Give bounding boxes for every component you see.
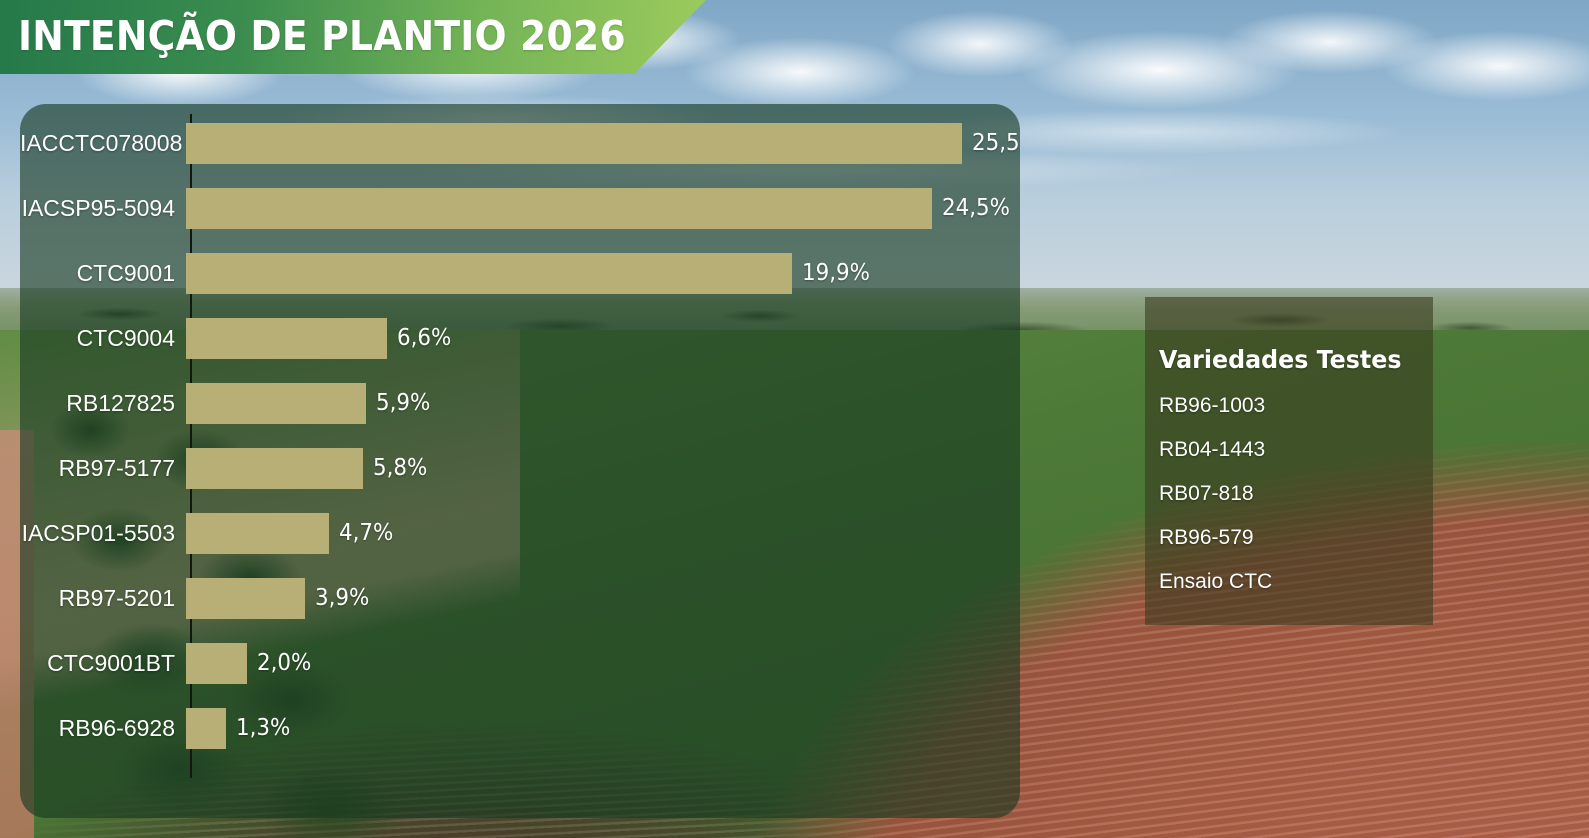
bar-category-label: RB97-5177 [20, 448, 184, 489]
variedade-teste-item: RB96-1003 [1159, 394, 1433, 418]
bar-row: RB1278255,9% [20, 383, 1020, 424]
bar-row: IACSP95-509424,5% [20, 188, 1020, 229]
bar-row: CTC90046,6% [20, 318, 1020, 359]
bar-fill [186, 578, 305, 619]
bar-category-label: CTC9004 [20, 318, 184, 359]
bar-row: CTC9001BT2,0% [20, 643, 1020, 684]
bar-row: RB96-69281,3% [20, 708, 1020, 749]
bar-row: RB97-52013,9% [20, 578, 1020, 619]
bar-track: 5,8% [184, 448, 1020, 489]
bar-value-label: 4,7% [339, 513, 393, 554]
bar-category-label: RB96-6928 [20, 708, 184, 749]
bar-fill [186, 383, 366, 424]
bar-category-label: CTC9001 [20, 253, 184, 294]
bar-track: 2,0% [184, 643, 1020, 684]
bar-track: 1,3% [184, 708, 1020, 749]
bar-value-label: 19,9% [802, 253, 870, 294]
variedades-testes-panel: Variedades Testes RB96-1003RB04-1443RB07… [1145, 297, 1433, 625]
bar-fill [186, 708, 226, 749]
bar-row: IACCTC07800825,5% [20, 123, 1020, 164]
bar-value-label: 5,8% [373, 448, 427, 489]
bar-track: 5,9% [184, 383, 1020, 424]
chart-plot-area: IACCTC07800825,5%IACSP95-509424,5%CTC900… [20, 104, 1020, 818]
bar-value-label: 6,6% [397, 318, 451, 359]
bar-category-label: CTC9001BT [20, 643, 184, 684]
bar-value-label: 1,3% [236, 708, 290, 749]
variedade-teste-item: RB04-1443 [1159, 438, 1433, 462]
bar-fill [186, 448, 363, 489]
variedade-teste-item: RB96-579 [1159, 526, 1433, 550]
bar-track: 4,7% [184, 513, 1020, 554]
chart-panel: IACCTC07800825,5%IACSP95-509424,5%CTC900… [20, 104, 1020, 818]
variedades-testes-list: RB96-1003RB04-1443RB07-818RB96-579Ensaio… [1159, 394, 1433, 594]
bar-track: 3,9% [184, 578, 1020, 619]
bar-category-label: RB97-5201 [20, 578, 184, 619]
bar-fill [186, 513, 329, 554]
bar-fill [186, 318, 387, 359]
bar-category-label: IACSP95-5094 [20, 188, 184, 229]
bar-value-label: 24,5% [942, 188, 1010, 229]
bar-track: 25,5% [184, 123, 1020, 164]
bar-track: 24,5% [184, 188, 1020, 229]
bar-row: RB97-51775,8% [20, 448, 1020, 489]
bar-track: 19,9% [184, 253, 1020, 294]
slide-canvas: INTENÇÃO DE PLANTIO 2026 IACCTC07800825,… [0, 0, 1589, 838]
variedade-teste-item: Ensaio CTC [1159, 570, 1433, 594]
bar-fill [186, 253, 792, 294]
page-title: INTENÇÃO DE PLANTIO 2026 [18, 7, 626, 65]
bar-fill [186, 643, 247, 684]
bar-track: 6,6% [184, 318, 1020, 359]
chart-bars-group: IACCTC07800825,5%IACSP95-509424,5%CTC900… [20, 104, 1020, 818]
title-banner: INTENÇÃO DE PLANTIO 2026 [0, 0, 706, 74]
bar-category-label: IACCTC078008 [20, 123, 184, 164]
variedade-teste-item: RB07-818 [1159, 482, 1433, 506]
bar-fill [186, 188, 932, 229]
bar-category-label: RB127825 [20, 383, 184, 424]
bar-value-label: 3,9% [315, 578, 369, 619]
bar-value-label: 5,9% [376, 383, 430, 424]
bar-row: IACSP01-55034,7% [20, 513, 1020, 554]
bar-value-label: 25,5% [972, 123, 1020, 164]
bar-value-label: 2,0% [257, 643, 311, 684]
bar-row: CTC900119,9% [20, 253, 1020, 294]
variedades-testes-title: Variedades Testes [1159, 345, 1419, 374]
bar-category-label: IACSP01-5503 [20, 513, 184, 554]
bar-fill [186, 123, 962, 164]
